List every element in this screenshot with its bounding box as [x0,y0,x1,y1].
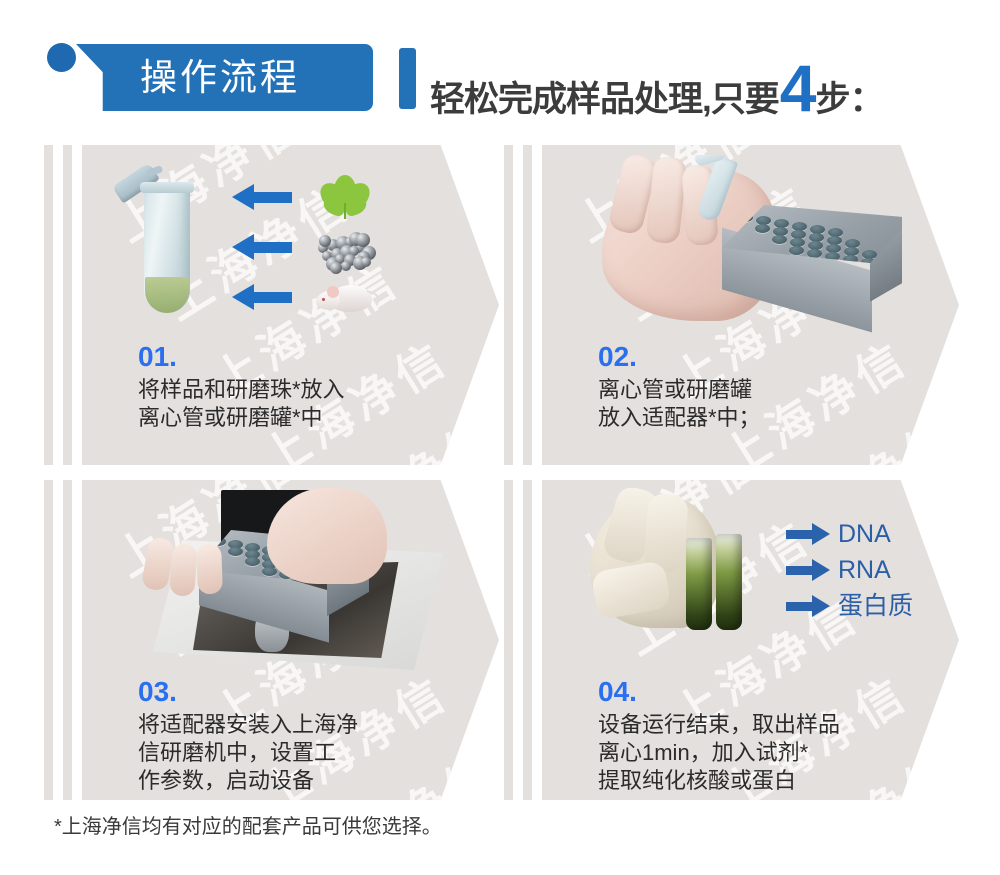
card-stripe-inner [63,480,72,800]
step-line: 离心1min，加入试剂* [598,739,948,767]
legend-item-protein: 蛋白质 [786,588,930,624]
step-line: 提取纯化核酸或蛋白 [598,767,948,795]
card-stripe-outer [504,480,513,800]
legend-item-dna: DNA [786,516,930,552]
sample-row-leaf [232,175,447,219]
step-card-03: 上海净信上海净信 上海净信上海净信 上海净信 [44,480,499,800]
step-02-caption: 02. 离心管或研磨罐 放入适配器*中； [598,341,948,432]
arrow-right-icon [786,526,830,542]
installing-adapter-photo [137,486,457,676]
step-line: 将样品和研磨珠*放入 [138,376,488,404]
step-04-caption: 04. 设备运行结束，取出样品 离心1min，加入试剂* 提取纯化核酸或蛋白 [598,676,948,795]
step-number: 01. [138,341,488,373]
card-stripe-inner [63,145,72,465]
step-number: 03. [138,676,488,708]
card-stripe-outer [504,145,513,465]
step-description: 离心管或研磨罐 放入适配器*中； [598,376,948,432]
card-stripe-inner [523,145,532,465]
gloved-hand-vials-photo: DNA RNA 蛋白质 [590,488,930,678]
step-card-body: 上海净信上海净信 上海净信上海净信 上海净信 [82,145,499,465]
footnote-text: *上海净信均有对应的配套产品可供您选择。 [54,810,442,839]
step-line: 作参数，启动设备 [138,767,488,795]
page-header: 操作流程 轻松完成样品处理,只要 4 步： [0,0,1000,135]
page-title-part2: 步： [815,71,883,122]
legend-item-rna: RNA [786,552,930,588]
card-stripe-outer [44,480,53,800]
step-01-artwork [82,151,499,341]
arrow-right-icon [786,598,830,614]
step-card-body: 上海净信上海净信 上海净信上海净信 上海净信 02. [542,145,959,465]
header-dot-decoration [47,43,76,72]
output-legend: DNA RNA 蛋白质 [786,516,930,624]
step-card-01: 上海净信上海净信 上海净信上海净信 上海净信 [44,145,499,465]
step-03-artwork [82,486,499,676]
grinding-beads-icon [314,225,376,269]
step-line: 放入适配器*中； [598,404,948,432]
sample-row-mouse [232,275,447,319]
centrifuge-tube-icon [140,173,196,313]
steps-grid: 上海净信上海净信 上海净信上海净信 上海净信 [0,140,1000,800]
step-number: 04. [598,676,948,708]
step-card-body: 上海净信上海净信 上海净信上海净信 上海净信 DNA [542,480,959,800]
step-04-artwork: DNA RNA 蛋白质 [542,486,959,676]
section-tab-label: 操作流程 [140,52,370,104]
sample-row-beads [232,225,447,269]
step-card-body: 上海净信上海净信 上海净信上海净信 上海净信 [82,480,499,800]
step-03-caption: 03. 将适配器安装入上海净 信研磨机中，设置工 作参数，启动设备 [138,676,488,795]
step-description: 设备运行结束，取出样品 离心1min，加入试剂* 提取纯化核酸或蛋白 [598,711,948,795]
page-title-part1: 轻松完成样品处理,只要 [430,71,779,122]
step-description: 将样品和研磨珠*放入 离心管或研磨罐*中 [138,376,488,432]
step-line: 将适配器安装入上海净 [138,711,488,739]
step-line: 设备运行结束，取出样品 [598,711,948,739]
leaf-icon [314,175,376,219]
header-accent-bar [399,48,416,109]
step-line: 离心管或研磨罐*中 [138,404,488,432]
arrow-left-icon [232,188,292,206]
page-title: 轻松完成样品处理,只要 4 步： [430,50,883,110]
card-stripe-inner [523,480,532,800]
legend-label: DNA [838,519,891,549]
step-01-caption: 01. 将样品和研磨珠*放入 离心管或研磨罐*中 [138,341,488,432]
step-card-02: 上海净信上海净信 上海净信上海净信 上海净信 02. [504,145,959,465]
mouse-icon [314,275,376,319]
arrow-right-icon [786,562,830,578]
step-line: 信研磨机中，设置工 [138,739,488,767]
card-stripe-outer [44,145,53,465]
promo-page: 操作流程 轻松完成样品处理,只要 4 步： 上海净信上海净信 上海净信上海净信 … [0,0,1000,875]
step-number: 02. [598,341,948,373]
arrow-left-icon [232,288,292,306]
hand-holding-adapter-photo [602,155,902,341]
page-title-step-count: 4 [780,50,815,126]
step-description: 将适配器安装入上海净 信研磨机中，设置工 作参数，启动设备 [138,711,488,795]
arrow-left-icon [232,238,292,256]
step-02-artwork [542,151,959,341]
legend-label: 蛋白质 [838,591,913,621]
step-line: 离心管或研磨罐 [598,376,948,404]
legend-label: RNA [838,555,891,585]
step-card-04: 上海净信上海净信 上海净信上海净信 上海净信 DNA [504,480,959,800]
